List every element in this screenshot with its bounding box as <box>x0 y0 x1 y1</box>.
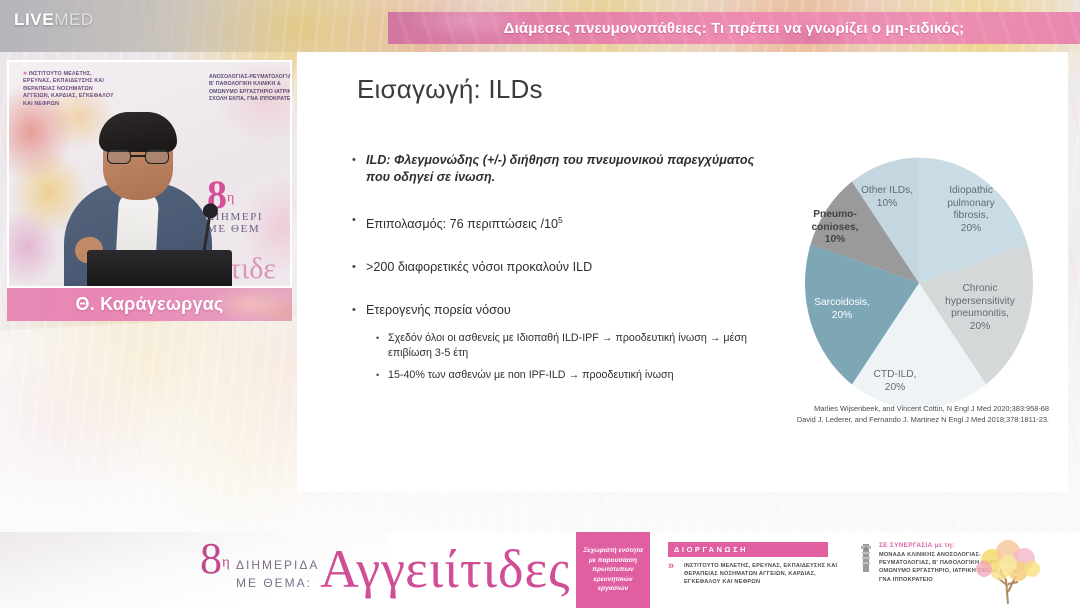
pie-label-line: conioses, <box>803 222 867 235</box>
bullet-text-4: Ετερογενής πορεία νόσου <box>366 302 511 319</box>
sub-bullet-marker-icon: • <box>376 331 388 361</box>
slide-canvas[interactable]: Εισαγωγή: ILDs • ILD: Φλεγμονώδης (+/-) … <box>297 52 1068 492</box>
pie-label-line: Sarcoidosis, <box>801 297 883 310</box>
pie-label-ctd-ild: CTD-ILD, 20% <box>855 369 935 394</box>
organizer-block: ΔΙΟΡΓΑΝΩΣΗ » ΙΝΣΤΙΤΟΥΤΟ ΜΕΛΕΤΗΣ, ΕΡΕΥΝΑΣ… <box>668 542 848 587</box>
event-subtitle-line2: ΜΕ ΘΕΜΑ: <box>236 574 319 592</box>
sub-bullet-text-2: 15-40% των ασθενών με non IPF-ILD → προο… <box>388 368 674 383</box>
pie-label-line: fibrosis, <box>926 210 1016 223</box>
event-script-title: Αγγειίτιδες <box>320 538 571 600</box>
backdrop-number-sup: η <box>227 191 234 206</box>
citation-line-1: Marlies Wijsenbeek, and Vincent Cottin, … <box>749 404 1049 415</box>
speaker-hair <box>99 112 177 152</box>
double-chevron-icon: » <box>668 562 684 587</box>
pie-label-line: hypersensitivity <box>929 296 1031 309</box>
top-header-bar: LIVEMED Διάμεσες πνευμονοπάθειες: Τι πρέ… <box>0 0 1080 52</box>
bullet-text-1: ILD: Φλεγμονώδης (+/-) διήθηση του πνευμ… <box>366 152 772 186</box>
bullet-item-4: • Ετερογενής πορεία νόσου <box>352 302 772 319</box>
bullet-text-3: >200 διαφορετικές νόσοι προκαλούν ILD <box>366 259 592 276</box>
backdrop-left-label: ΙΝΣΤΙΤΟΥΤΟ ΜΕΛΕΤΗΣ, ΕΡΕΥΝΑΣ, ΕΚΠΑΙΔΕΥΣΗΣ… <box>23 71 114 107</box>
backdrop-right-text: ΑΝΟΣΟΛΟΓΙΑΣ-ΡΕΥΜΑΤΟΛΟΓΙΑΣ Β' ΠΑΘΟΛΟΓΙΚΗ … <box>209 74 292 104</box>
pie-label-line: Chronic <box>929 283 1031 296</box>
pie-label-sarcoidosis: Sarcoidosis, 20% <box>801 297 883 322</box>
bullet-text-2: Επιπολασμός: 76 περιπτώσεις /105 <box>366 212 563 233</box>
pie-label-line: CTD-ILD, <box>855 369 935 382</box>
citation-line-2: David J. Lederer, and Fernando J. Martin… <box>749 415 1049 426</box>
university-seal-icon <box>858 542 876 584</box>
slide-bullet-list: • ILD: Φλεγμονώδης (+/-) διήθηση του πνε… <box>352 152 772 390</box>
event-number-block: 8η <box>200 538 230 580</box>
speaker-glasses-icon <box>107 149 169 164</box>
presentation-title-band: Διάμεσες πνευμονοπάθειες: Τι πρέπει να γ… <box>388 12 1080 44</box>
ild-distribution-pie-chart: Idiopathic pulmonary fibrosis, 20% Chron… <box>795 147 1045 447</box>
bullet-item-2: • Επιπολασμός: 76 περιπτώσεις /105 <box>352 212 772 233</box>
pie-label-value: 10% <box>851 198 923 211</box>
pie-label-other-ilds: Other ILDs, 10% <box>851 185 923 210</box>
event-subtitle-block: ΔΙΗΜΕΡΙΔΑ ΜΕ ΘΕΜΑ: <box>236 556 319 592</box>
event-number: 8 <box>200 534 222 583</box>
pie-label-line: pulmonary <box>926 198 1016 211</box>
laptop-on-podium <box>87 250 232 288</box>
pie-label-line: Idiopathic <box>926 185 1016 198</box>
bullet-marker-icon: • <box>352 302 366 319</box>
bullet-item-3: • >200 διαφορετικές νόσοι προκαλούν ILD <box>352 259 772 276</box>
bullet-marker-icon: • <box>352 212 366 233</box>
speaker-name: Θ. Καράγεωργας <box>76 294 224 315</box>
tree-logo-icon <box>962 536 1054 606</box>
special-session-text: Ξεχωριστή ενότητα με παρουσίαση πρωτότυπ… <box>576 546 650 594</box>
slide-sub-bullet-list: • Σχεδόν όλοι οι ασθενείς με Ιδιοπαθή IL… <box>376 331 772 383</box>
pie-label-line: Pneumo- <box>803 209 867 222</box>
special-session-note: Ξεχωριστή ενότητα με παρουσίαση πρωτότυπ… <box>576 532 650 608</box>
bullet-text-2-main: Επιπολασμός: 76 περιπτώσεις /10 <box>366 217 558 231</box>
logo-live-text: LIVE <box>14 10 54 29</box>
speaker-video-panel[interactable]: » ΙΝΣΤΙΤΟΥΤΟ ΜΕΛΕΤΗΣ, ΕΡΕΥΝΑΣ, ΕΚΠΑΙΔΕΥΣ… <box>7 60 292 288</box>
sub-bullet-item-2: • 15-40% των ασθενών με non IPF-ILD → πρ… <box>376 368 772 383</box>
bullet-text-2-superscript: 5 <box>558 215 563 225</box>
slide-citations: Marlies Wijsenbeek, and Vincent Cottin, … <box>749 404 1049 425</box>
bullet-item-1: • ILD: Φλεγμονώδης (+/-) διήθηση του πνε… <box>352 152 772 186</box>
slide-title: Εισαγωγή: ILDs <box>357 74 543 105</box>
pie-label-value: 20% <box>926 223 1016 236</box>
bullet-marker-icon: • <box>352 259 366 276</box>
logo-med-text: MED <box>54 10 94 29</box>
bullet-marker-icon: • <box>352 152 366 186</box>
organizer-body: » ΙΝΣΤΙΤΟΥΤΟ ΜΕΛΕΤΗΣ, ΕΡΕΥΝΑΣ, ΕΚΠΑΙΔΕΥΣ… <box>668 562 848 587</box>
pie-label-value: 10% <box>803 234 867 247</box>
pie-label-pneumoconioses: Pneumo- conioses, 10% <box>803 209 867 247</box>
sub-bullet-text-1: Σχεδόν όλοι οι ασθενείς με Ιδιοπαθή ILD-… <box>388 331 772 361</box>
pie-label-value: 20% <box>801 310 883 323</box>
pie-label-value: 20% <box>929 321 1031 334</box>
organizer-text: ΙΝΣΤΙΤΟΥΤΟ ΜΕΛΕΤΗΣ, ΕΡΕΥΝΑΣ, ΕΚΠΑΙΔΕΥΣΗΣ… <box>684 562 848 587</box>
sub-bullet-item-1: • Σχεδόν όλοι οι ασθενείς με Ιδιοπαθή IL… <box>376 331 772 361</box>
pie-label-chronic-hypersensitivity-pneumonitis: Chronic hypersensitivity pneumonitis, 20… <box>929 283 1031 333</box>
pie-label-value: 20% <box>855 382 935 395</box>
organizer-heading: ΔΙΟΡΓΑΝΩΣΗ <box>668 542 828 557</box>
pie-label-line: pneumonitis, <box>929 308 1031 321</box>
speaker-name-bar: Θ. Καράγεωργας <box>7 288 292 321</box>
event-subtitle-line1: ΔΙΗΜΕΡΙΔΑ <box>236 556 319 574</box>
event-number-sup: η <box>222 555 230 571</box>
backdrop-arrow-icon: » <box>23 70 27 77</box>
backdrop-line2: ΜΕ ΘΕΜ <box>207 223 263 235</box>
screen-root: LIVEMED Διάμεσες πνευμονοπάθειες: Τι πρέ… <box>0 0 1080 608</box>
presentation-title: Διάμεσες πνευμονοπάθειες: Τι πρέπει να γ… <box>388 12 1080 44</box>
pie-label-idiopathic-pulmonary-fibrosis: Idiopathic pulmonary fibrosis, 20% <box>926 185 1016 235</box>
backdrop-left-text: » ΙΝΣΤΙΤΟΥΤΟ ΜΕΛΕΤΗΣ, ΕΡΕΥΝΑΣ, ΕΚΠΑΙΔΕΥΣ… <box>23 70 115 108</box>
livemed-logo[interactable]: LIVEMED <box>14 10 94 29</box>
sub-bullet-marker-icon: • <box>376 368 388 383</box>
bottom-sponsor-banner: 8η ΔΙΗΜΕΡΙΔΑ ΜΕ ΘΕΜΑ: Αγγειίτιδες Ξεχωρι… <box>0 532 1080 608</box>
pie-label-line: Other ILDs, <box>851 185 923 198</box>
